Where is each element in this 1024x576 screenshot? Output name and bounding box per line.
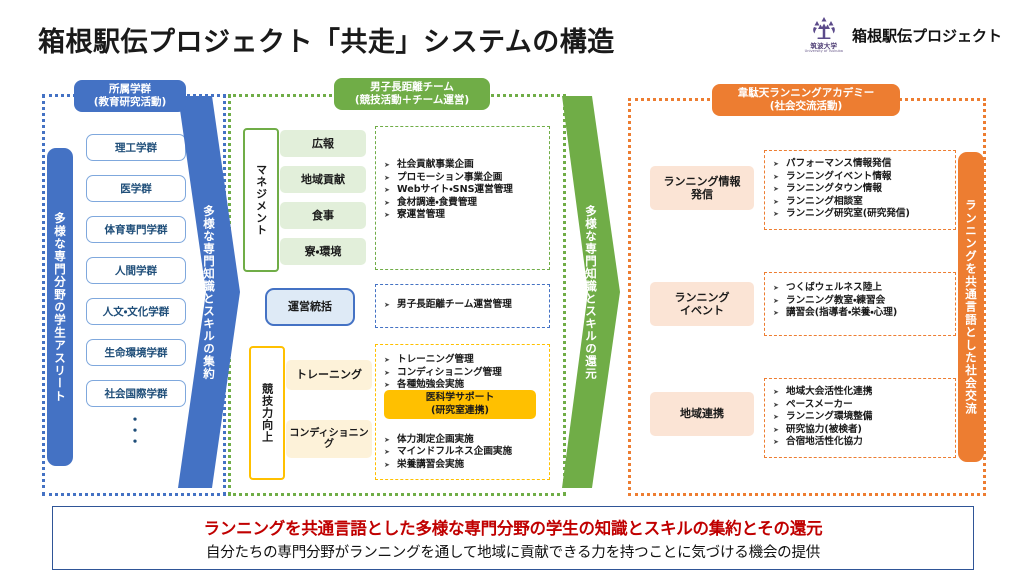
knowledge-return-label: 多様な専門知識とスキルの還元 [562, 96, 620, 488]
school-item[interactable]: 社会国際学群 [86, 380, 186, 407]
left-header-line2: (教育研究活動) [94, 96, 167, 109]
community-partnership-bullet-list: 地域大会活性化連携 ペースメーカー ランニング環境整備 研究協力(被検者) 合宿… [773, 386, 955, 449]
management-bullet-list: 社会貢献事業企画 プロモーション事業企画 Webサイト・SNS運営管理 食材調達… [384, 159, 549, 222]
bullet-item: 研究協力(被検者) [773, 424, 955, 437]
bullet-item: マインドフルネス企画実施 [384, 446, 549, 459]
bullet-item: ランニング研究室(研究発信) [773, 208, 955, 221]
community-partnership-bullets-panel: 地域大会活性化連携 ペースメーカー ランニング環境整備 研究協力(被検者) 合宿… [764, 378, 956, 458]
bullet-item: 体力測定企画実施 [384, 434, 549, 447]
medical-support-line1: 医科学サポート [426, 392, 495, 404]
performance-category[interactable]: 競技力向上 [249, 346, 285, 480]
bullet-item: ランニングタウン情報 [773, 183, 955, 196]
ellipsis-dot: ・ [86, 428, 184, 435]
ellipsis-dot: ・ [86, 417, 184, 424]
running-event-line1: ランニング [675, 291, 730, 304]
running-event-bullet-list: つくばウェルネス陸上 ランニング教室・練習会 講習会(指導者・栄養・心理) [773, 282, 955, 320]
running-event-bullets-panel: つくばウェルネス陸上 ランニング教室・練習会 講習会(指導者・栄養・心理) [764, 272, 956, 336]
bullet-item: 栄養講習会実施 [384, 459, 549, 472]
bullet-item: ランニングイベント情報 [773, 171, 955, 184]
school-item[interactable]: 医学群 [86, 175, 186, 202]
middle-header-line1: 男子長距離チーム [370, 81, 454, 94]
running-event-label[interactable]: ランニング イベント [650, 282, 754, 326]
community-partnership-label[interactable]: 地域連携 [650, 392, 754, 436]
school-item[interactable]: 体育専門学群 [86, 216, 186, 243]
right-header-line2: (社会交流活動) [770, 100, 843, 113]
summary-line-1: ランニングを共通言語とした多様な専門分野の学生の知識とスキルの集約とその還元 [204, 515, 823, 539]
knowledge-aggregation-arrow: 多様な専門知識とスキルの集約 [178, 96, 240, 488]
bullet-item: プロモーション事業企画 [384, 172, 549, 185]
bullet-item: 地域大会活性化連携 [773, 386, 955, 399]
diverse-student-athletes-label: 多様な専門分野の学生アスリート [52, 212, 68, 403]
performance-sub-training[interactable]: トレーニング [286, 360, 372, 390]
page-title: 箱根駅伝プロジェクト「共走」システムの構造 [38, 20, 615, 59]
performance-sub-conditioning[interactable]: コンディショニング [286, 420, 372, 458]
medical-support-line2: (研究室連携) [431, 405, 489, 417]
management-category[interactable]: マネジメント [243, 128, 279, 272]
knowledge-return-arrow: 多様な専門知識とスキルの還元 [562, 96, 620, 488]
management-sub-ryou-kankyou[interactable]: 寮・環境 [280, 238, 366, 265]
bullet-item: 社会貢献事業企画 [384, 159, 549, 172]
bullet-item: つくばウェルネス陸上 [773, 282, 955, 295]
bullet-item: ペースメーカー [773, 399, 955, 412]
operations-bullets-panel: 男子長距離チーム運営管理 [375, 284, 550, 328]
operations-category[interactable]: 運営統括 [265, 288, 355, 326]
running-info-label[interactable]: ランニング情報 発信 [650, 166, 754, 210]
brand-lockup: 筑波大学 University of Tsukuba 箱根駅伝プロジェクト [805, 16, 1002, 54]
bullet-item: 講習会(指導者・栄養・心理) [773, 307, 955, 320]
middle-header-line2: (競技活動＋チーム運営) [355, 94, 469, 107]
community-partnership-line1: 地域連携 [680, 407, 724, 420]
performance-sub-conditioning-label: コンディショニング [286, 428, 372, 451]
summary-box: ランニングを共通言語とした多様な専門分野の学生の知識とスキルの集約とその還元 自… [52, 506, 974, 570]
middle-column-header: 男子長距離チーム (競技活動＋チーム運営) [334, 78, 490, 110]
summary-line-2: 自分たちの専門分野がランニングを通して地域に貢献できる力を持つことに気づける機会… [206, 541, 820, 562]
management-sub-chiikikouken[interactable]: 地域貢献 [280, 166, 366, 193]
school-item[interactable]: 人間学群 [86, 257, 186, 284]
social-exchange-label: ランニングを共通言語とした社会交流 [963, 199, 979, 415]
right-header-line1: 韋駄天ランニングアカデミー [738, 87, 875, 100]
bullet-item: トレーニング管理 [384, 354, 549, 367]
social-exchange-bar: ランニングを共通言語とした社会交流 [958, 152, 984, 462]
tsukuba-university-logo: 筑波大学 University of Tsukuba [805, 16, 843, 54]
school-item[interactable]: 生命環境学群 [86, 339, 186, 366]
bullet-item: 食材調達・食費管理 [384, 197, 549, 210]
bullet-item: ランニング教室・練習会 [773, 295, 955, 308]
bullet-item: コンディショニング管理 [384, 367, 549, 380]
knowledge-aggregation-label: 多様な専門知識とスキルの集約 [178, 96, 240, 488]
performance-bullet-list-top: トレーニング管理 コンディショニング管理 各種勉強会実施 [384, 354, 549, 392]
school-item[interactable]: 人文・文化学群 [86, 298, 186, 325]
performance-bullet-list-bottom: 体力測定企画実施 マインドフルネス企画実施 栄養講習会実施 [384, 434, 549, 472]
management-bullets-panel: 社会貢献事業企画 プロモーション事業企画 Webサイト・SNS運営管理 食材調達… [375, 126, 550, 270]
management-sub-kouhou[interactable]: 広報 [280, 130, 366, 157]
running-info-line2: 発信 [691, 188, 713, 201]
bullet-item: ランニング相談室 [773, 196, 955, 209]
bullet-item: パフォーマンス情報発信 [773, 158, 955, 171]
school-item[interactable]: 理工学群 [86, 134, 186, 161]
bullet-item: ランニング環境整備 [773, 411, 955, 424]
right-column-header: 韋駄天ランニングアカデミー (社会交流活動) [712, 84, 900, 116]
bullet-item: Webサイト・SNS運営管理 [384, 184, 549, 197]
medical-science-support-highlight[interactable]: 医科学サポート (研究室連携) [384, 390, 536, 419]
operations-bullet-list: 男子長距離チーム運営管理 [384, 299, 549, 312]
bullet-item: 男子長距離チーム運営管理 [384, 299, 549, 312]
left-header-line1: 所属学群 [109, 83, 151, 96]
ellipsis-dot: ・ [86, 439, 184, 446]
school-list: 理工学群 医学群 体育専門学群 人間学群 人文・文化学群 生命環境学群 社会国際… [86, 134, 184, 464]
management-sub-shokuji[interactable]: 食事 [280, 202, 366, 229]
university-name-en: University of Tsukuba [805, 50, 843, 54]
bullet-item: 合宿地活性化協力 [773, 436, 955, 449]
project-name: 箱根駅伝プロジェクト [852, 25, 1002, 46]
running-info-bullets-panel: パフォーマンス情報発信 ランニングイベント情報 ランニングタウン情報 ランニング… [764, 150, 956, 230]
tsukuba-logo-icon [809, 16, 839, 42]
bullet-item: 寮運営管理 [384, 209, 549, 222]
running-event-line2: イベント [680, 304, 724, 317]
slide-canvas: 箱根駅伝プロジェクト「共走」システムの構造 筑波大学 Univers [0, 0, 1024, 576]
running-info-line1: ランニング情報 [664, 175, 741, 188]
left-column-header: 所属学群 (教育研究活動) [74, 80, 186, 112]
diverse-student-athletes-bar: 多様な専門分野の学生アスリート [47, 148, 73, 466]
running-info-bullet-list: パフォーマンス情報発信 ランニングイベント情報 ランニングタウン情報 ランニング… [773, 158, 955, 221]
